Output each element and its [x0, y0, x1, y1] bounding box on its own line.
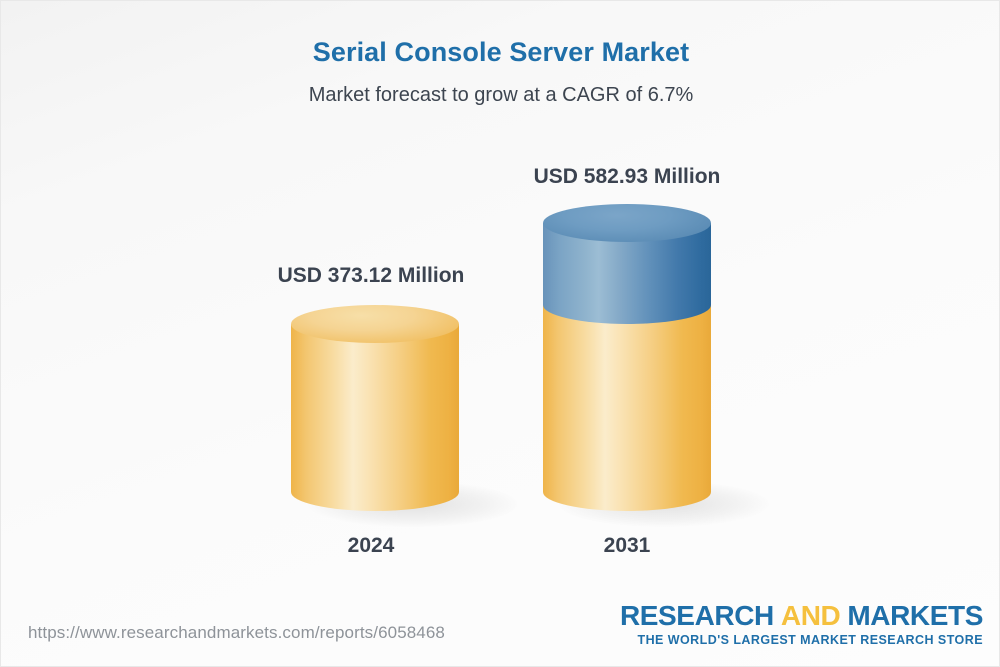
- axis-label-2031: 2031: [467, 534, 787, 558]
- cylinder-top-2024: [291, 305, 459, 343]
- cylinder-2024[interactable]: [291, 305, 459, 513]
- logo-word-markets: MARKETS: [847, 600, 983, 631]
- cylinder-2031[interactable]: [543, 204, 711, 513]
- cylinder-segment-base-2031: [543, 305, 711, 511]
- source-url[interactable]: https://www.researchandmarkets.com/repor…: [28, 623, 445, 643]
- chart-card: Serial Console Server Market Market fore…: [0, 0, 1000, 667]
- plot-area: USD 373.12 Million 2024 USD 582.93 Milli…: [1, 1, 1000, 601]
- logo-wordmark: RESEARCHANDMARKETS: [620, 601, 983, 631]
- brand-logo[interactable]: RESEARCHANDMARKETS THE WORLD'S LARGEST M…: [620, 601, 983, 648]
- bar-value-label-2031: USD 582.93 Million: [467, 165, 787, 189]
- logo-word-research: RESEARCH: [620, 600, 774, 631]
- logo-word-and: AND: [781, 600, 840, 631]
- logo-tagline: THE WORLD'S LARGEST MARKET RESEARCH STOR…: [620, 633, 983, 648]
- bar-group-2031: USD 582.93 Million 2031: [467, 1, 787, 601]
- cylinder-top-2031: [543, 204, 711, 242]
- cylinder-body-2024: [291, 324, 459, 511]
